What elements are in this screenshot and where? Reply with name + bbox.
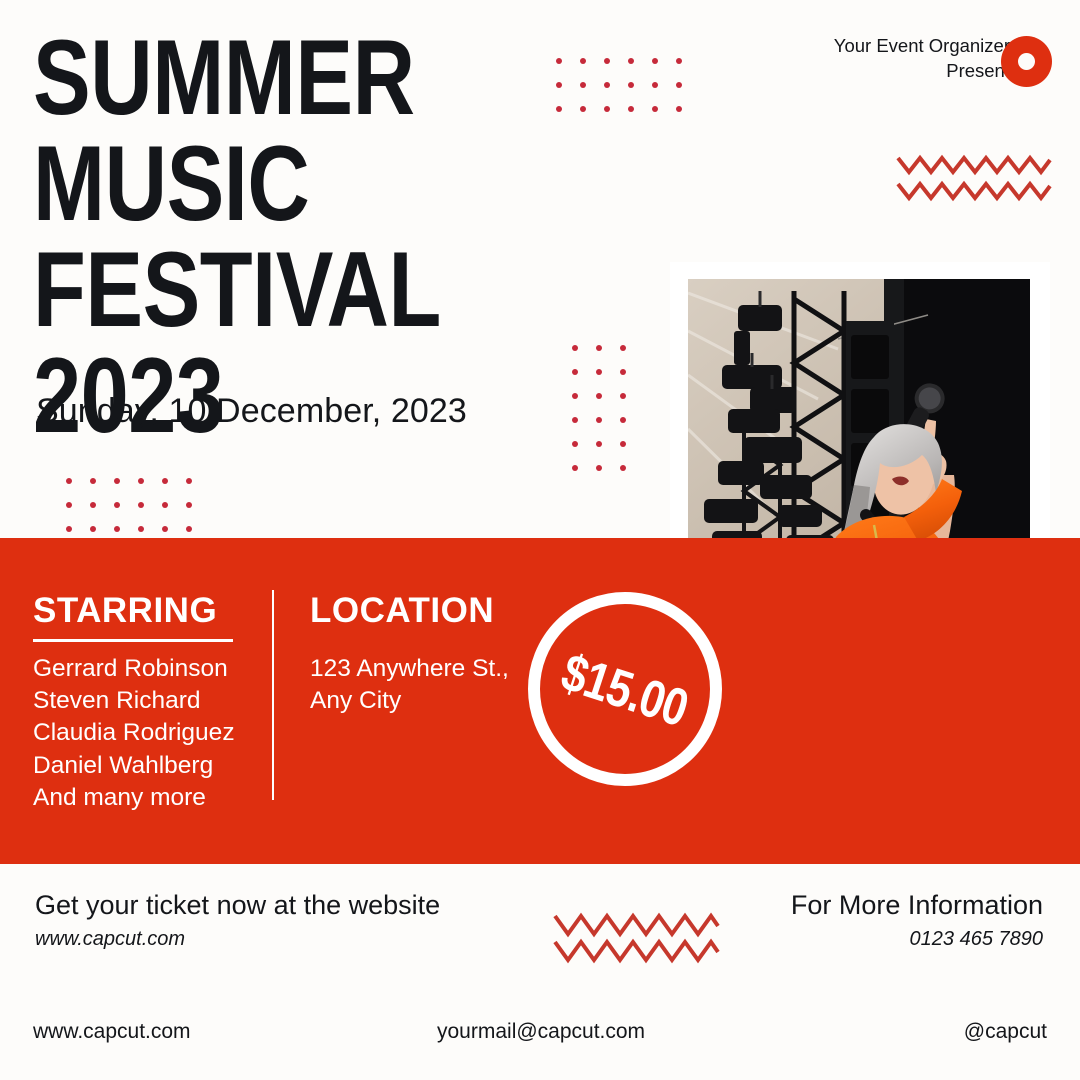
decorative-dot xyxy=(572,393,578,399)
decorative-dot xyxy=(676,106,682,112)
location-heading: LOCATION xyxy=(310,592,560,630)
more-info-phone: 0123 465 7890 xyxy=(910,928,1043,951)
more-info-title: For More Information xyxy=(791,890,1043,921)
cta-title: Get your ticket now at the website xyxy=(35,890,440,921)
list-item: Gerrard Robinson xyxy=(33,653,263,685)
decorative-dot xyxy=(572,369,578,375)
decorative-dot xyxy=(620,465,626,471)
decorative-dot xyxy=(572,345,578,351)
column-divider xyxy=(272,590,274,800)
decorative-dot xyxy=(596,345,602,351)
list-item: Daniel Wahlberg xyxy=(33,750,263,782)
decorative-dot xyxy=(572,441,578,447)
decorative-dot xyxy=(162,502,168,508)
address-line-1: 123 Anywhere St., xyxy=(310,653,560,685)
decorative-dot xyxy=(66,478,72,484)
decorative-dot xyxy=(604,106,610,112)
organizer-line-2: Present xyxy=(834,59,1010,84)
location-column: LOCATION 123 Anywhere St., Any City xyxy=(310,592,560,717)
decorative-dot xyxy=(556,58,562,64)
decorative-dot xyxy=(596,441,602,447)
list-item: And many more xyxy=(33,782,263,814)
decorative-dot xyxy=(620,417,626,423)
decorative-dot xyxy=(186,478,192,484)
starring-column: STARRING Gerrard Robinson Steven Richard… xyxy=(33,592,263,814)
event-date: Sunday, 10 December, 2023 xyxy=(36,392,467,431)
decorative-dot xyxy=(114,478,120,484)
price-value: $15.00 xyxy=(555,640,696,738)
decorative-dot xyxy=(66,502,72,508)
title-line-2: MUSIC FESTIVAL xyxy=(33,130,640,342)
zigzag-top-decoration xyxy=(896,152,1052,204)
footer-email[interactable]: yourmail@capcut.com xyxy=(437,1020,645,1044)
decorative-dot xyxy=(620,345,626,351)
cta-website-link[interactable]: www.capcut.com xyxy=(35,928,185,951)
decorative-dot xyxy=(162,478,168,484)
decorative-dot xyxy=(652,82,658,88)
footer-social[interactable]: @capcut xyxy=(964,1020,1047,1044)
zigzag-bottom-decoration xyxy=(552,908,722,966)
location-address: 123 Anywhere St., Any City xyxy=(310,653,560,718)
decorative-dot xyxy=(596,393,602,399)
starring-underline xyxy=(33,639,233,642)
decorative-dot xyxy=(162,526,168,532)
footer-website[interactable]: www.capcut.com xyxy=(33,1020,191,1044)
decorative-dot xyxy=(596,369,602,375)
decorative-dot xyxy=(138,526,144,532)
decorative-dot xyxy=(186,502,192,508)
ring-dot-logo-icon xyxy=(1001,36,1052,87)
dot-grid-middle-decoration xyxy=(572,345,644,489)
decorative-dot xyxy=(628,106,634,112)
decorative-dot xyxy=(604,58,610,64)
decorative-dot xyxy=(580,82,586,88)
decorative-dot xyxy=(628,58,634,64)
decorative-dot xyxy=(652,106,658,112)
list-item: Claudia Rodriguez xyxy=(33,717,263,749)
title-line-1: SUMMER xyxy=(33,24,640,130)
decorative-dot xyxy=(90,526,96,532)
decorative-dot xyxy=(676,58,682,64)
decorative-dot xyxy=(580,106,586,112)
decorative-dot xyxy=(90,478,96,484)
decorative-dot xyxy=(604,82,610,88)
decorative-dot xyxy=(628,82,634,88)
decorative-dot xyxy=(620,393,626,399)
organizer-line-1: Your Event Organizer xyxy=(834,34,1010,59)
decorative-dot xyxy=(652,58,658,64)
decorative-dot xyxy=(572,417,578,423)
list-item: Steven Richard xyxy=(33,685,263,717)
decorative-dot xyxy=(114,526,120,532)
decorative-dot xyxy=(620,369,626,375)
decorative-dot xyxy=(596,465,602,471)
organizer-block: Your Event Organizer Present xyxy=(834,34,1010,84)
decorative-dot xyxy=(572,465,578,471)
decorative-dot xyxy=(138,478,144,484)
decorative-dot xyxy=(620,441,626,447)
decorative-dot xyxy=(580,58,586,64)
decorative-dot xyxy=(676,82,682,88)
price-badge[interactable]: $15.00 xyxy=(528,592,722,786)
starring-names-list: Gerrard Robinson Steven Richard Claudia … xyxy=(33,653,263,815)
decorative-dot xyxy=(186,526,192,532)
page-title: SUMMER MUSIC FESTIVAL 2023 xyxy=(33,24,640,448)
decorative-dot xyxy=(66,526,72,532)
decorative-dot xyxy=(138,502,144,508)
decorative-dot xyxy=(556,82,562,88)
starring-heading: STARRING xyxy=(33,592,263,630)
decorative-dot xyxy=(596,417,602,423)
dot-grid-top-decoration xyxy=(556,58,700,130)
decorative-dot xyxy=(114,502,120,508)
decorative-dot xyxy=(90,502,96,508)
poster-canvas: SUMMER MUSIC FESTIVAL 2023 Sunday, 10 De… xyxy=(0,0,1080,1080)
decorative-dot xyxy=(556,106,562,112)
address-line-2: Any City xyxy=(310,685,560,717)
